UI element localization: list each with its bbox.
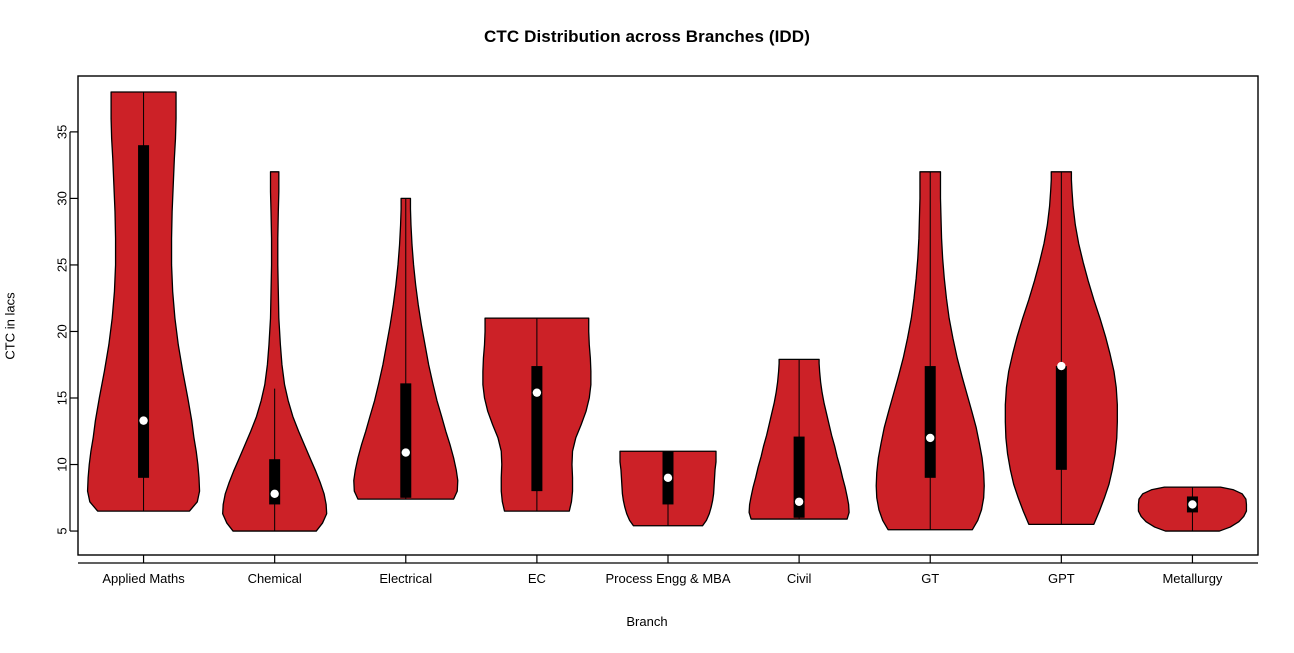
y-tick-label: 35: [55, 125, 70, 139]
x-tick-label-chemical: Chemical: [248, 571, 302, 586]
iqr-box: [531, 366, 542, 491]
median-marker: [795, 498, 803, 506]
violin-group: [88, 92, 1247, 531]
violin-applied-maths: [88, 92, 200, 511]
y-tick-label: 25: [55, 258, 70, 272]
y-axis: 5101520253035: [55, 125, 79, 535]
x-tick-label-electrical: Electrical: [379, 571, 432, 586]
median-marker: [270, 490, 278, 498]
violin-chemical: [223, 172, 327, 531]
y-tick-label: 20: [55, 324, 70, 338]
chart-root: CTC Distribution across Branches (IDD) C…: [0, 0, 1294, 653]
x-tick-label-applied-maths: Applied Maths: [102, 571, 185, 586]
x-tick-label-metallurgy: Metallurgy: [1162, 571, 1222, 586]
violin-electrical: [354, 198, 458, 499]
iqr-box: [1056, 366, 1067, 470]
x-tick-label-process-engg-mba: Process Engg & MBA: [606, 571, 731, 586]
y-tick-label: 5: [55, 527, 70, 534]
x-tick-label-civil: Civil: [787, 571, 812, 586]
median-marker: [926, 434, 934, 442]
violin-metallurgy: [1138, 487, 1246, 531]
median-marker: [139, 416, 147, 424]
violin-gpt: [1005, 172, 1117, 525]
median-marker: [1057, 362, 1065, 370]
median-marker: [533, 388, 541, 396]
violin-plot: 5101520253035 Applied MathsChemicalElect…: [0, 0, 1294, 653]
y-tick-label: 10: [55, 457, 70, 471]
iqr-box: [400, 383, 411, 497]
x-tick-label-gt: GT: [921, 571, 939, 586]
median-marker: [664, 474, 672, 482]
iqr-box: [138, 145, 149, 478]
median-marker: [1188, 500, 1196, 508]
x-axis: Applied MathsChemicalElectricalECProcess…: [78, 555, 1258, 586]
violin-civil: [749, 359, 849, 519]
x-tick-label-gpt: GPT: [1048, 571, 1075, 586]
y-tick-label: 15: [55, 391, 70, 405]
violin-gt: [876, 172, 984, 530]
iqr-box: [925, 366, 936, 478]
median-marker: [402, 448, 410, 456]
violin-process-engg-mba: [620, 451, 716, 526]
y-tick-label: 30: [55, 191, 70, 205]
violin-ec: [483, 318, 591, 511]
x-tick-label-ec: EC: [528, 571, 546, 586]
